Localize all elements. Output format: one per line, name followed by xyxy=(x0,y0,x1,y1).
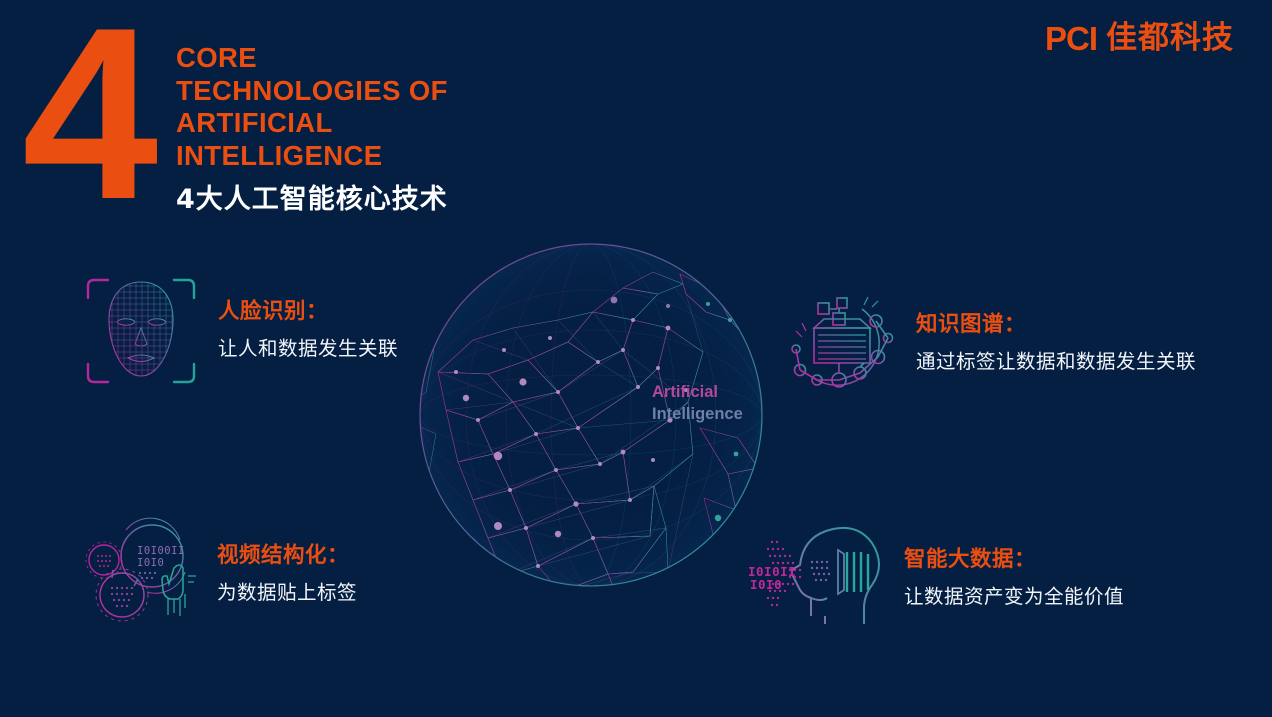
title-en-line-2: TECHNOLOGIES OF xyxy=(176,75,606,108)
feature-description: 通过标签让数据和数据发生关联 xyxy=(916,345,1196,374)
feature-text: 人脸识别： 让人和数据发生关联 xyxy=(218,272,398,361)
feature-knowledge-graph[interactable]: 知识图谱： 通过标签让数据和数据发生关联 xyxy=(790,285,1196,393)
title-en-line-4: INTELLIGENCE xyxy=(176,140,606,173)
big-numeral-4: 4 xyxy=(22,18,152,209)
feature-text: 知识图谱： 通过标签让数据和数据发生关联 xyxy=(916,285,1196,374)
feature-video-structuring[interactable]: I0I00II I0I0 视频结构化： 为数据贴上标签 xyxy=(84,516,357,628)
feature-description: 让人和数据发生关联 xyxy=(218,332,398,361)
face-mesh-icon xyxy=(82,272,200,390)
svg-text:I0I0: I0I0 xyxy=(137,557,164,569)
head-binary-icon: I0I0II I0I0 xyxy=(748,520,886,630)
feature-heading: 视频结构化： xyxy=(217,538,357,569)
feature-description: 为数据贴上标签 xyxy=(217,576,357,605)
title-chinese: 4大人工智能核心技术 xyxy=(176,177,606,216)
logo-company-name: 佳都科技 xyxy=(1106,23,1234,54)
feature-heading: 知识图谱： xyxy=(916,307,1196,338)
ai-label-line-1: Artificial xyxy=(652,381,743,403)
feature-intelligent-big-data[interactable]: I0I0II I0I0 xyxy=(748,520,1124,630)
feature-heading: 人脸识别： xyxy=(218,294,398,325)
feature-description: 让数据资产变为全能价值 xyxy=(904,580,1124,609)
ai-label-line-2: Intelligence xyxy=(652,403,743,425)
hero-title-block: 4 CORE TECHNOLOGIES OF ARTIFICIAL INTELL… xyxy=(0,0,620,230)
feature-face-recognition[interactable]: 人脸识别： 让人和数据发生关联 xyxy=(82,272,398,390)
video-structuring-icon: I0I00II I0I0 xyxy=(84,516,199,628)
logo-mark-text: PCI xyxy=(1045,22,1097,55)
feature-text: 智能大数据： 让数据资产变为全能价值 xyxy=(904,520,1124,609)
brand-logo: PCI 佳都科技 xyxy=(1045,22,1234,55)
title-block: CORE TECHNOLOGIES OF ARTIFICIAL INTELLIG… xyxy=(176,42,606,216)
svg-text:I0I00II: I0I00II xyxy=(137,545,185,557)
feature-heading: 智能大数据： xyxy=(904,542,1124,573)
knowledge-graph-icon xyxy=(790,285,898,393)
feature-text: 视频结构化： 为数据贴上标签 xyxy=(217,516,357,605)
globe-ai-label: Artificial Intelligence xyxy=(652,381,743,426)
title-en-line-3: ARTIFICIAL xyxy=(176,107,606,140)
title-english: CORE TECHNOLOGIES OF ARTIFICIAL INTELLIG… xyxy=(176,42,606,173)
logo-mark: PCI xyxy=(1045,22,1097,55)
title-en-line-1: CORE xyxy=(176,42,606,75)
